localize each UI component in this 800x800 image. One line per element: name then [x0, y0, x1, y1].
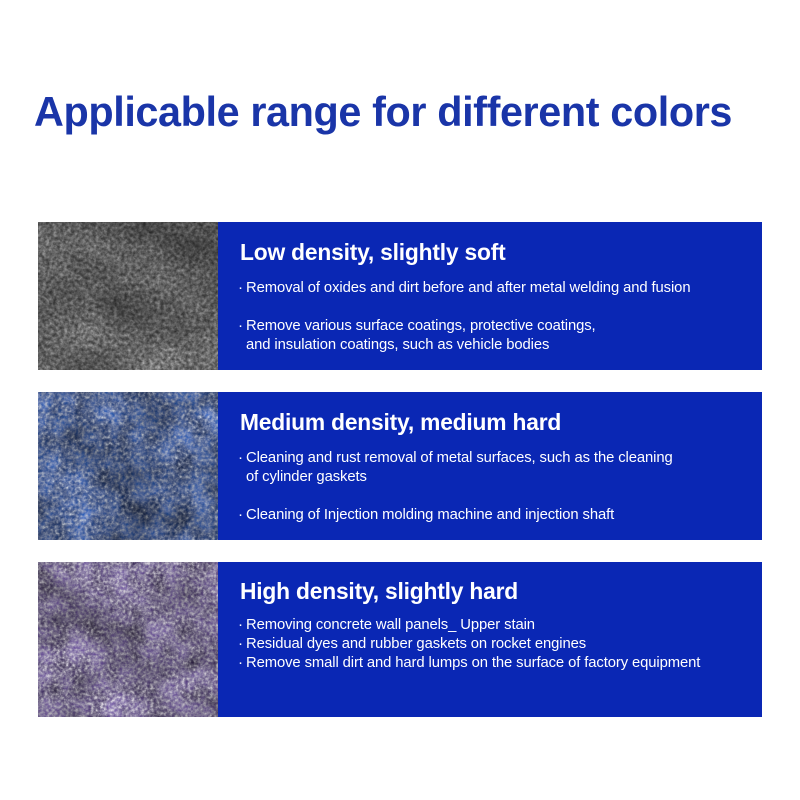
bullet-text: Remove small dirt and hard lumps on the … — [246, 653, 741, 672]
list-item: · Cleaning and rust removal of metal sur… — [238, 448, 754, 486]
texture-svg-2 — [38, 562, 218, 717]
bullet-text: Cleaning and rust removal of metal surfa… — [246, 448, 741, 486]
bullet-text: Residual dyes and rubber gaskets on rock… — [246, 634, 741, 653]
card-bullet-list: · Removal of oxides and dirt before and … — [238, 278, 754, 354]
page-title: Applicable range for different colors — [34, 88, 763, 136]
bullet-text: Cleaning of Injection molding machine an… — [246, 505, 741, 524]
bullet-marker-icon: · — [238, 634, 246, 653]
texture-svg-1 — [38, 392, 218, 540]
bullet-marker-icon: · — [238, 615, 246, 634]
bullet-marker-icon: · — [238, 448, 246, 467]
list-item: · Remove various surface coatings, prote… — [238, 316, 754, 354]
bullet-text: Removing concrete wall panels_ Upper sta… — [246, 615, 741, 634]
bullet-marker-icon: · — [238, 505, 246, 524]
panel-medium-density: Medium density, medium hard · Cleaning a… — [218, 392, 762, 540]
bullet-text: Remove various surface coatings, protect… — [246, 316, 741, 354]
list-item: · Removal of oxides and dirt before and … — [238, 278, 754, 297]
list-item: · Residual dyes and rubber gaskets on ro… — [238, 634, 754, 653]
card-medium-density: Medium density, medium hard · Cleaning a… — [38, 392, 762, 540]
list-item: · Remove small dirt and hard lumps on th… — [238, 653, 754, 672]
card-heading: High density, slightly hard — [240, 578, 518, 604]
bullet-marker-icon: · — [238, 278, 246, 297]
card-bullet-list: · Cleaning and rust removal of metal sur… — [238, 448, 754, 524]
bullet-text: Removal of oxides and dirt before and af… — [246, 278, 741, 297]
panel-low-density: Low density, slightly soft · Removal of … — [218, 222, 762, 370]
card-heading: Low density, slightly soft — [240, 239, 506, 265]
card-bullet-list: · Removing concrete wall panels_ Upper s… — [238, 615, 754, 672]
list-item: · Cleaning of Injection molding machine … — [238, 505, 754, 524]
blue-abrasive-pad-texture — [38, 392, 218, 540]
card-heading: Medium density, medium hard — [240, 409, 561, 435]
card-high-density: High density, slightly hard · Removing c… — [38, 562, 762, 717]
panel-high-density: High density, slightly hard · Removing c… — [218, 562, 762, 717]
poster-root: Applicable range for different colors — [0, 0, 800, 800]
list-item: · Removing concrete wall panels_ Upper s… — [238, 615, 754, 634]
card-low-density: Low density, slightly soft · Removal of … — [38, 222, 762, 370]
texture-svg-0 — [38, 222, 218, 370]
purple-abrasive-pad-texture — [38, 562, 218, 717]
black-abrasive-pad-texture — [38, 222, 218, 370]
bullet-marker-icon: · — [238, 316, 246, 335]
bullet-marker-icon: · — [238, 653, 246, 672]
